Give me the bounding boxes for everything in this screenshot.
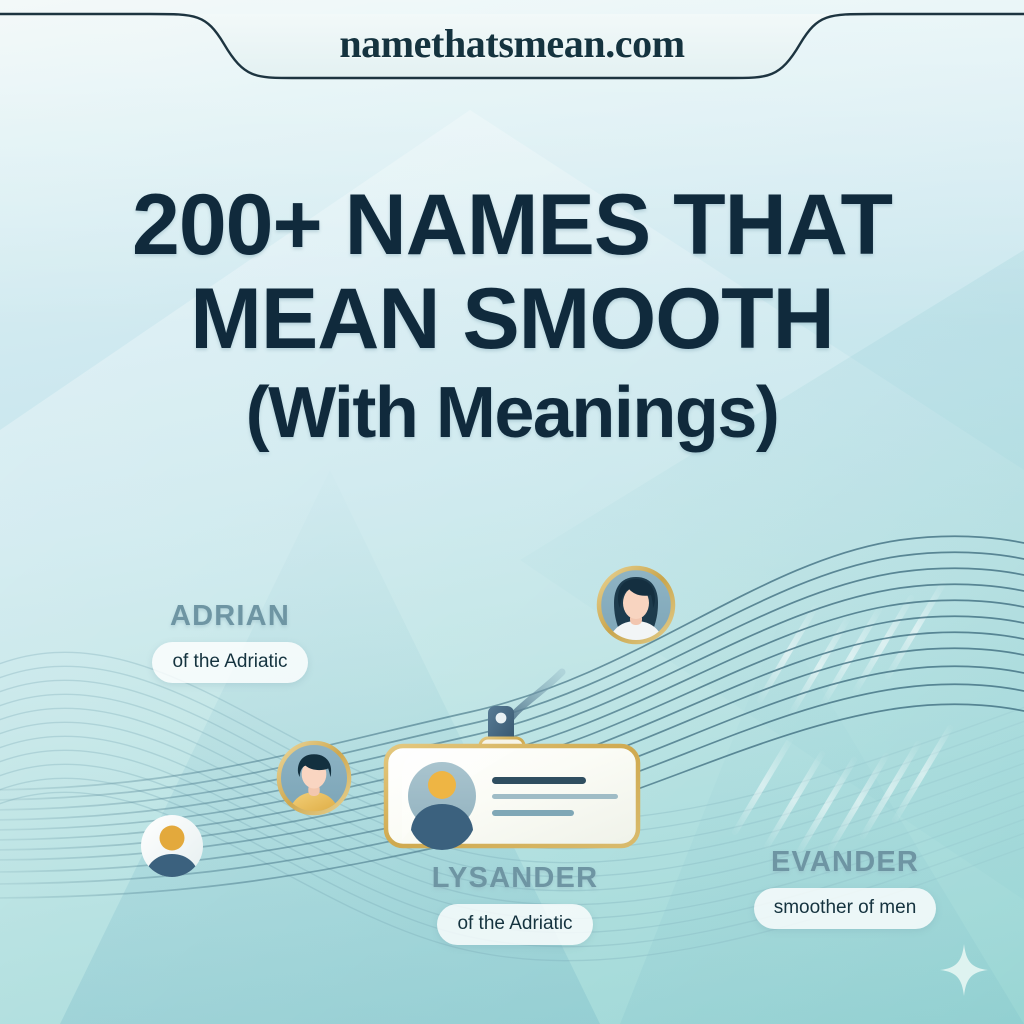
title-line-3: (With Meanings) bbox=[48, 377, 976, 450]
header-tab-shape bbox=[0, 0, 1024, 95]
poster-canvas: namethatsmean.com 200+ NAMES THAT MEAN S… bbox=[0, 0, 1024, 1024]
name-label-lysander: LYSANDER bbox=[400, 862, 630, 895]
card-line-1 bbox=[492, 777, 586, 784]
name-label-adrian: ADRIAN bbox=[120, 600, 340, 633]
page-title: 200+ NAMES THAT MEAN SMOOTH (With Meanin… bbox=[0, 182, 1024, 451]
name-label-evander: EVANDER bbox=[725, 846, 965, 879]
user-avatar-icon bbox=[408, 762, 476, 850]
name-group-adrian: ADRIAN of the Adriatic bbox=[120, 600, 340, 683]
sparkle-star-icon bbox=[940, 944, 988, 996]
clip-hole-icon bbox=[496, 713, 507, 724]
meaning-pill-lysander: of the Adriatic bbox=[437, 904, 592, 945]
title-line-1: 200+ NAMES THAT bbox=[48, 182, 976, 270]
card-line-3 bbox=[492, 810, 574, 816]
header-tab: namethatsmean.com bbox=[0, 0, 1024, 95]
avatar-female-icon bbox=[596, 565, 676, 645]
site-domain-label: namethatsmean.com bbox=[0, 20, 1024, 67]
card-line-2 bbox=[492, 794, 618, 799]
avatar-male-icon bbox=[276, 740, 352, 816]
name-group-lysander: LYSANDER of the Adriatic bbox=[400, 862, 630, 945]
avatar-generic-icon bbox=[138, 812, 206, 880]
meaning-pill-adrian: of the Adriatic bbox=[152, 642, 307, 683]
id-badge-card bbox=[384, 688, 640, 848]
name-group-evander: EVANDER smoother of men bbox=[725, 846, 965, 929]
meaning-pill-evander: smoother of men bbox=[754, 888, 937, 929]
title-line-2: MEAN SMOOTH bbox=[48, 276, 976, 364]
